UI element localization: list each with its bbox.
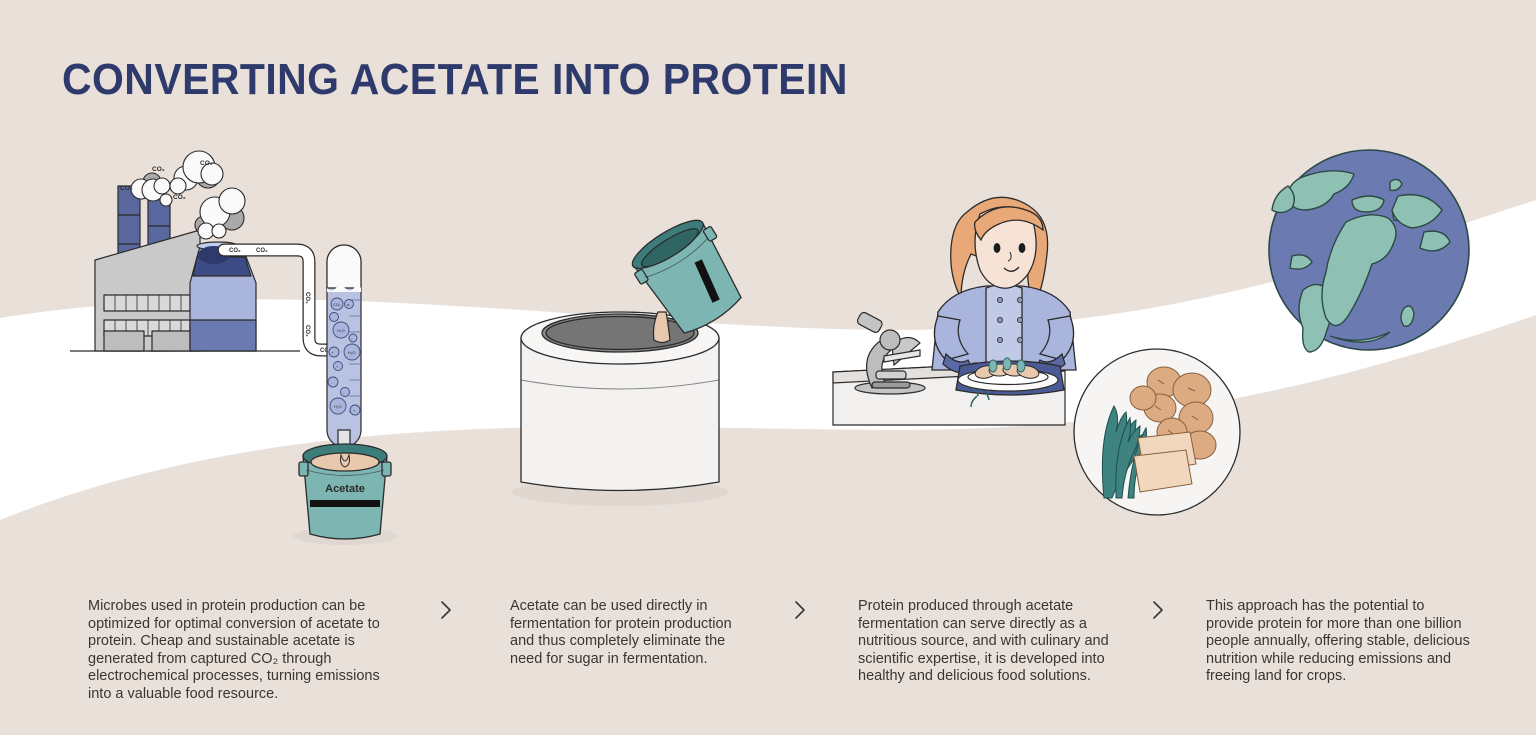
caption-panel-chef: Protein produced through acetate ferment… (858, 598, 1120, 686)
chevron-right-icon-2 (790, 597, 810, 623)
chevron-right-icon-3 (1148, 597, 1168, 623)
infographic-canvas: CO₂ CO₂ CO₂ CO₂ CO₂ CO₂ CO₂ CO₂ CO₂ (0, 0, 1536, 735)
caption-panel-globe: This approach has the potential to provi… (1206, 598, 1474, 686)
chevron-right-icon-1 (436, 597, 456, 623)
page-title: CONVERTING ACETATE INTO PROTEIN (62, 55, 848, 105)
caption-panel-fermentation: Acetate can be used directly in fermenta… (510, 598, 750, 668)
caption-panel-factory: Microbes used in protein production can … (88, 598, 388, 704)
